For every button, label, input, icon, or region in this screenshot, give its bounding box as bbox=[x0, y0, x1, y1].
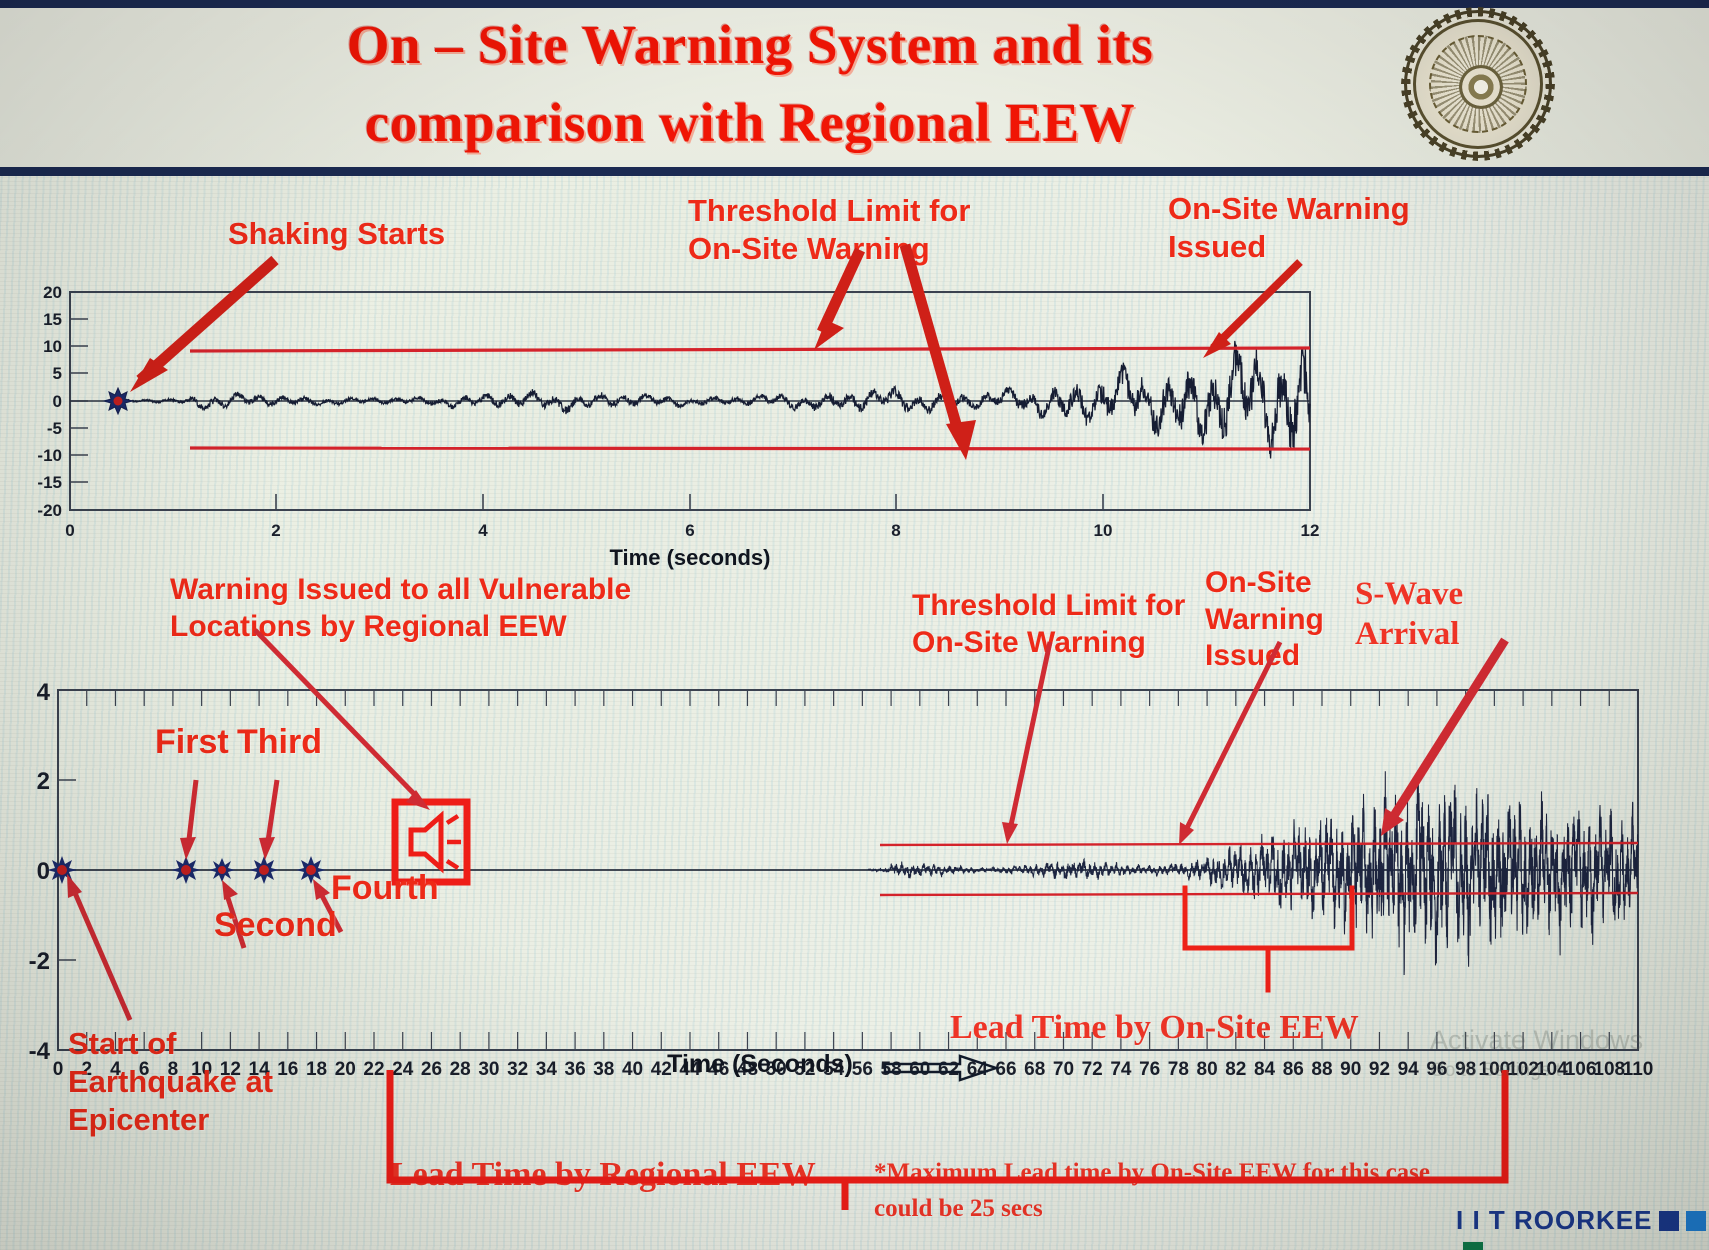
arrow-warning-issued-regional bbox=[255, 630, 430, 810]
top-ytick: 5 bbox=[53, 364, 62, 383]
label-second: Second bbox=[214, 905, 337, 946]
top-ytick: -10 bbox=[37, 446, 62, 465]
top-xtick: 2 bbox=[271, 521, 280, 540]
top-xtick: 0 bbox=[65, 521, 74, 540]
top-xtick: 6 bbox=[685, 521, 694, 540]
top-ytick: 10 bbox=[43, 337, 62, 356]
label-fourth: Fourth bbox=[331, 868, 439, 909]
footer-institute-label: I I T ROORKEE bbox=[1456, 1205, 1652, 1235]
bracket-lead-time-regional bbox=[0, 1050, 1709, 1210]
annotation-onsite-warning-issued-top: On-Site Warning Issued bbox=[1168, 190, 1410, 266]
arrow-threshold-limit-bottom bbox=[1002, 642, 1050, 844]
top-ytick: -20 bbox=[37, 501, 62, 520]
footer-square-2 bbox=[1686, 1211, 1706, 1231]
annotation-s-wave-arrival: S-Wave Arrival bbox=[1355, 575, 1463, 654]
top-ytick: 20 bbox=[43, 283, 62, 302]
footer-square-1 bbox=[1659, 1211, 1679, 1231]
shaking-start-marker bbox=[104, 388, 132, 414]
top-xtick: 12 bbox=[1301, 521, 1320, 540]
iit-roorkee-seal-icon bbox=[1404, 10, 1552, 158]
page-title-line2: comparison with Regional EEW bbox=[170, 84, 1330, 162]
top-accelerogram-chart: 20 15 10 5 0 -5 -10 -15 -20 0 bbox=[0, 270, 1400, 570]
arrow-s-wave-arrival bbox=[1381, 640, 1505, 836]
annotation-warning-issued-regional: Warning Issued to all Vulnerable Locatio… bbox=[170, 572, 631, 645]
top-xtick: 8 bbox=[891, 521, 900, 540]
arrow-third bbox=[259, 780, 277, 860]
top-ytick: -5 bbox=[47, 419, 62, 438]
page-title: On – Site Warning System and its compari… bbox=[170, 6, 1330, 162]
slide-root: On – Site Warning System and its compari… bbox=[0, 0, 1709, 1250]
arrow-onsite-warning-issued-top bbox=[1203, 262, 1300, 358]
bottom-ytick: -2 bbox=[29, 948, 50, 975]
bottom-chart-x-ticks-bottom bbox=[58, 1032, 1638, 1050]
arrow-first bbox=[180, 780, 196, 860]
annotation-shaking-starts: Shaking Starts bbox=[228, 215, 445, 253]
label-lead-time-onsite: Lead Time by On-Site EEW bbox=[950, 1008, 1359, 1049]
bottom-ytick: 2 bbox=[37, 768, 50, 795]
top-threshold-lower-line bbox=[190, 448, 1310, 449]
top-xtick: 10 bbox=[1094, 521, 1113, 540]
footer-square-3 bbox=[1463, 1242, 1483, 1250]
footer-institute-logo: I I T ROORKEE bbox=[1456, 1205, 1709, 1250]
label-third: Third bbox=[237, 722, 322, 763]
bottom-ytick: 0 bbox=[37, 858, 50, 885]
top-ytick: -15 bbox=[37, 473, 62, 492]
top-waveform-trace bbox=[118, 341, 1310, 459]
arrow-threshold-lower-top bbox=[905, 245, 976, 460]
bracket-lead-time-onsite bbox=[1185, 888, 1352, 990]
top-chart-xlabel: Time (seconds) bbox=[610, 545, 771, 570]
label-first: First bbox=[155, 722, 229, 763]
seal-core bbox=[1459, 65, 1503, 109]
annotation-onsite-warning-issued-bottom: On-Site Warning Issued bbox=[1205, 565, 1324, 675]
top-xtick: 4 bbox=[478, 521, 488, 540]
top-ytick: 0 bbox=[53, 392, 62, 411]
slide-header: On – Site Warning System and its compari… bbox=[0, 0, 1709, 176]
arrow-shaking-starts bbox=[130, 260, 275, 392]
bottom-ytick: 4 bbox=[37, 679, 51, 706]
bottom-waveform-trace bbox=[868, 770, 1638, 975]
annotation-threshold-limit-top: Threshold Limit for On-Site Warning bbox=[688, 192, 970, 268]
top-chart-x-ticks bbox=[70, 494, 1310, 510]
page-title-line1: On – Site Warning System and its bbox=[170, 6, 1330, 84]
top-chart-y-labels: 20 15 10 5 0 -5 -10 -15 -20 bbox=[37, 283, 62, 520]
arrow-onsite-warning-issued-bottom bbox=[1179, 642, 1280, 845]
bottom-chart-y-labels: 4 2 0 -2 -4 bbox=[29, 679, 51, 1065]
top-chart-svg: 20 15 10 5 0 -5 -10 -15 -20 0 bbox=[0, 270, 1400, 570]
top-threshold-upper-line bbox=[190, 348, 1310, 351]
top-ytick: 15 bbox=[43, 310, 62, 329]
arrow-start-of-earthquake bbox=[67, 874, 130, 1020]
top-chart-x-labels: 0 2 4 6 8 10 12 bbox=[65, 521, 1319, 540]
bottom-chart-x-ticks-top bbox=[58, 690, 1638, 706]
